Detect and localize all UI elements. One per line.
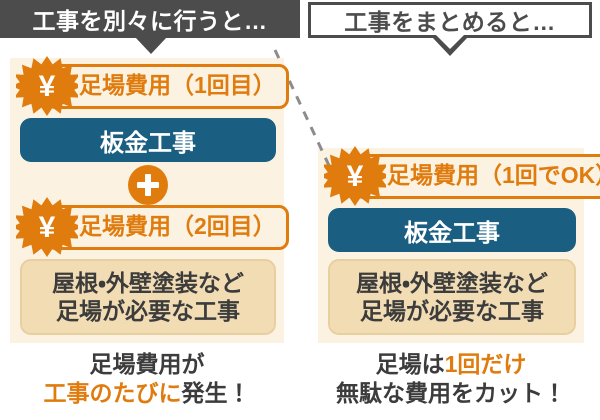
right-cost-1-label: 足場費用（1回でOK）: [387, 162, 600, 188]
right-caption-line-2: 無駄な費用をカット！: [318, 379, 584, 408]
yen-symbol: ¥: [16, 197, 78, 259]
right-work-2-line1: 屋根・外壁塗装など: [356, 269, 548, 297]
left-work-1-box: 板金工事: [20, 118, 276, 162]
right-work-1-label: 板金工事: [404, 213, 500, 248]
right-caption-highlight: 1回だけ: [445, 351, 527, 377]
left-work-2-line2: 足場が必要な工事: [56, 297, 240, 325]
left-cost-1-pill: 足場費用（1回目）: [46, 64, 289, 109]
yen-burst-icon: ¥: [324, 146, 386, 208]
right-cost-1-pill: 足場費用（1回でOK）: [354, 154, 600, 199]
left-caption: 足場費用が 工事のたびに発生！: [10, 350, 284, 408]
yen-symbol: ¥: [324, 146, 386, 208]
yen-burst-icon: ¥: [16, 56, 78, 118]
right-work-2-box: 屋根・外壁塗装など 足場が必要な工事: [328, 259, 576, 335]
left-cost-1-label: 足場費用（1回目）: [79, 72, 276, 98]
yen-burst-icon: ¥: [16, 197, 78, 259]
right-header-label: 工事をまとめると…: [344, 3, 556, 37]
plus-bar-vertical: [145, 174, 151, 196]
left-header-banner: 工事を別々に行うと…: [0, 0, 300, 38]
right-header-banner: 工事をまとめると…: [308, 2, 592, 38]
plus-circle-icon: [128, 165, 168, 205]
left-work-2-box: 屋根・外壁塗装など 足場が必要な工事: [20, 259, 276, 335]
right-cost-1-row: ¥ 足場費用（1回でOK）: [324, 154, 600, 199]
left-cost-2-label: 足場費用（2回目）: [79, 213, 276, 239]
left-caption-rest: 発生！: [182, 380, 251, 406]
right-caption-line-1: 足場は1回だけ: [318, 350, 584, 379]
left-header-arrow-icon: [135, 37, 167, 54]
left-cost-2-row: ¥ 足場費用（2回目）: [16, 205, 289, 250]
left-caption-line-2: 工事のたびに発生！: [10, 379, 284, 408]
right-work-2-line2: 足場が必要な工事: [360, 297, 544, 325]
left-caption-line-1: 足場費用が: [10, 350, 284, 379]
left-caption-highlight: 工事のたびに: [44, 380, 182, 406]
left-work-2-line1: 屋根・外壁塗装など: [52, 269, 244, 297]
right-work-1-box: 板金工事: [328, 208, 576, 252]
diagram-canvas: 工事を別々に行うと… 工事をまとめると… ¥ 足場費用（1回目） 板金工事: [0, 0, 600, 420]
right-caption: 足場は1回だけ 無駄な費用をカット！: [318, 350, 584, 408]
right-header-arrow-inner-icon: [436, 35, 464, 49]
left-work-1-label: 板金工事: [100, 123, 196, 158]
left-cost-2-pill: 足場費用（2回目）: [46, 205, 289, 250]
left-cost-1-row: ¥ 足場費用（1回目）: [16, 64, 289, 109]
right-caption-rest: 足場は: [376, 351, 445, 377]
left-header-label: 工事を別々に行うと…: [33, 2, 268, 36]
yen-symbol: ¥: [16, 56, 78, 118]
